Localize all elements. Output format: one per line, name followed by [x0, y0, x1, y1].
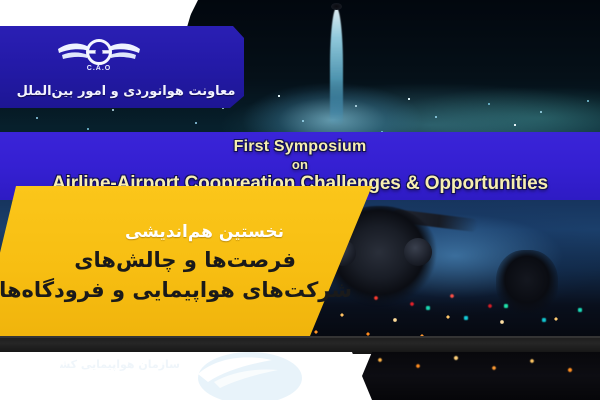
persian-title-line-1: نخستین هم‌اندیشی	[0, 222, 322, 242]
watermark-block: سازمان هواپیمایی کشوری	[60, 352, 340, 400]
persian-title-line-2: فرصت‌ها و چالش‌های	[0, 248, 322, 272]
light-beam-tower-icon	[330, 8, 343, 126]
faint-bird-emblem-icon	[180, 352, 320, 400]
cao-winged-circle-emblem-icon: C.A.O	[56, 33, 142, 73]
persian-title-block: نخستین هم‌اندیشی فرصت‌ها و چالش‌های شرکت…	[0, 196, 330, 328]
watermark-text-fa: سازمان هواپیمایی کشوری	[60, 358, 180, 371]
bottom-runway-lights	[360, 352, 600, 382]
svg-text:C.A.O: C.A.O	[87, 65, 111, 72]
tower-cap-icon	[331, 3, 342, 10]
title-line-first-symposium: First Symposium	[234, 138, 367, 156]
title-line-on: on	[292, 157, 308, 172]
organization-name-fa: معاونت هوانوردی و امور بین‌الملل	[8, 78, 244, 104]
persian-title-line-3: شرکت‌های هواپیمایی و فرودگاه‌ها	[0, 278, 352, 302]
strip-highlight	[0, 336, 600, 338]
aircraft-right-engine	[404, 238, 432, 266]
symposium-poster: C.A.O معاونت هوانوردی و امور بین‌الملل F…	[0, 0, 600, 400]
runway-green-lights	[410, 296, 600, 332]
